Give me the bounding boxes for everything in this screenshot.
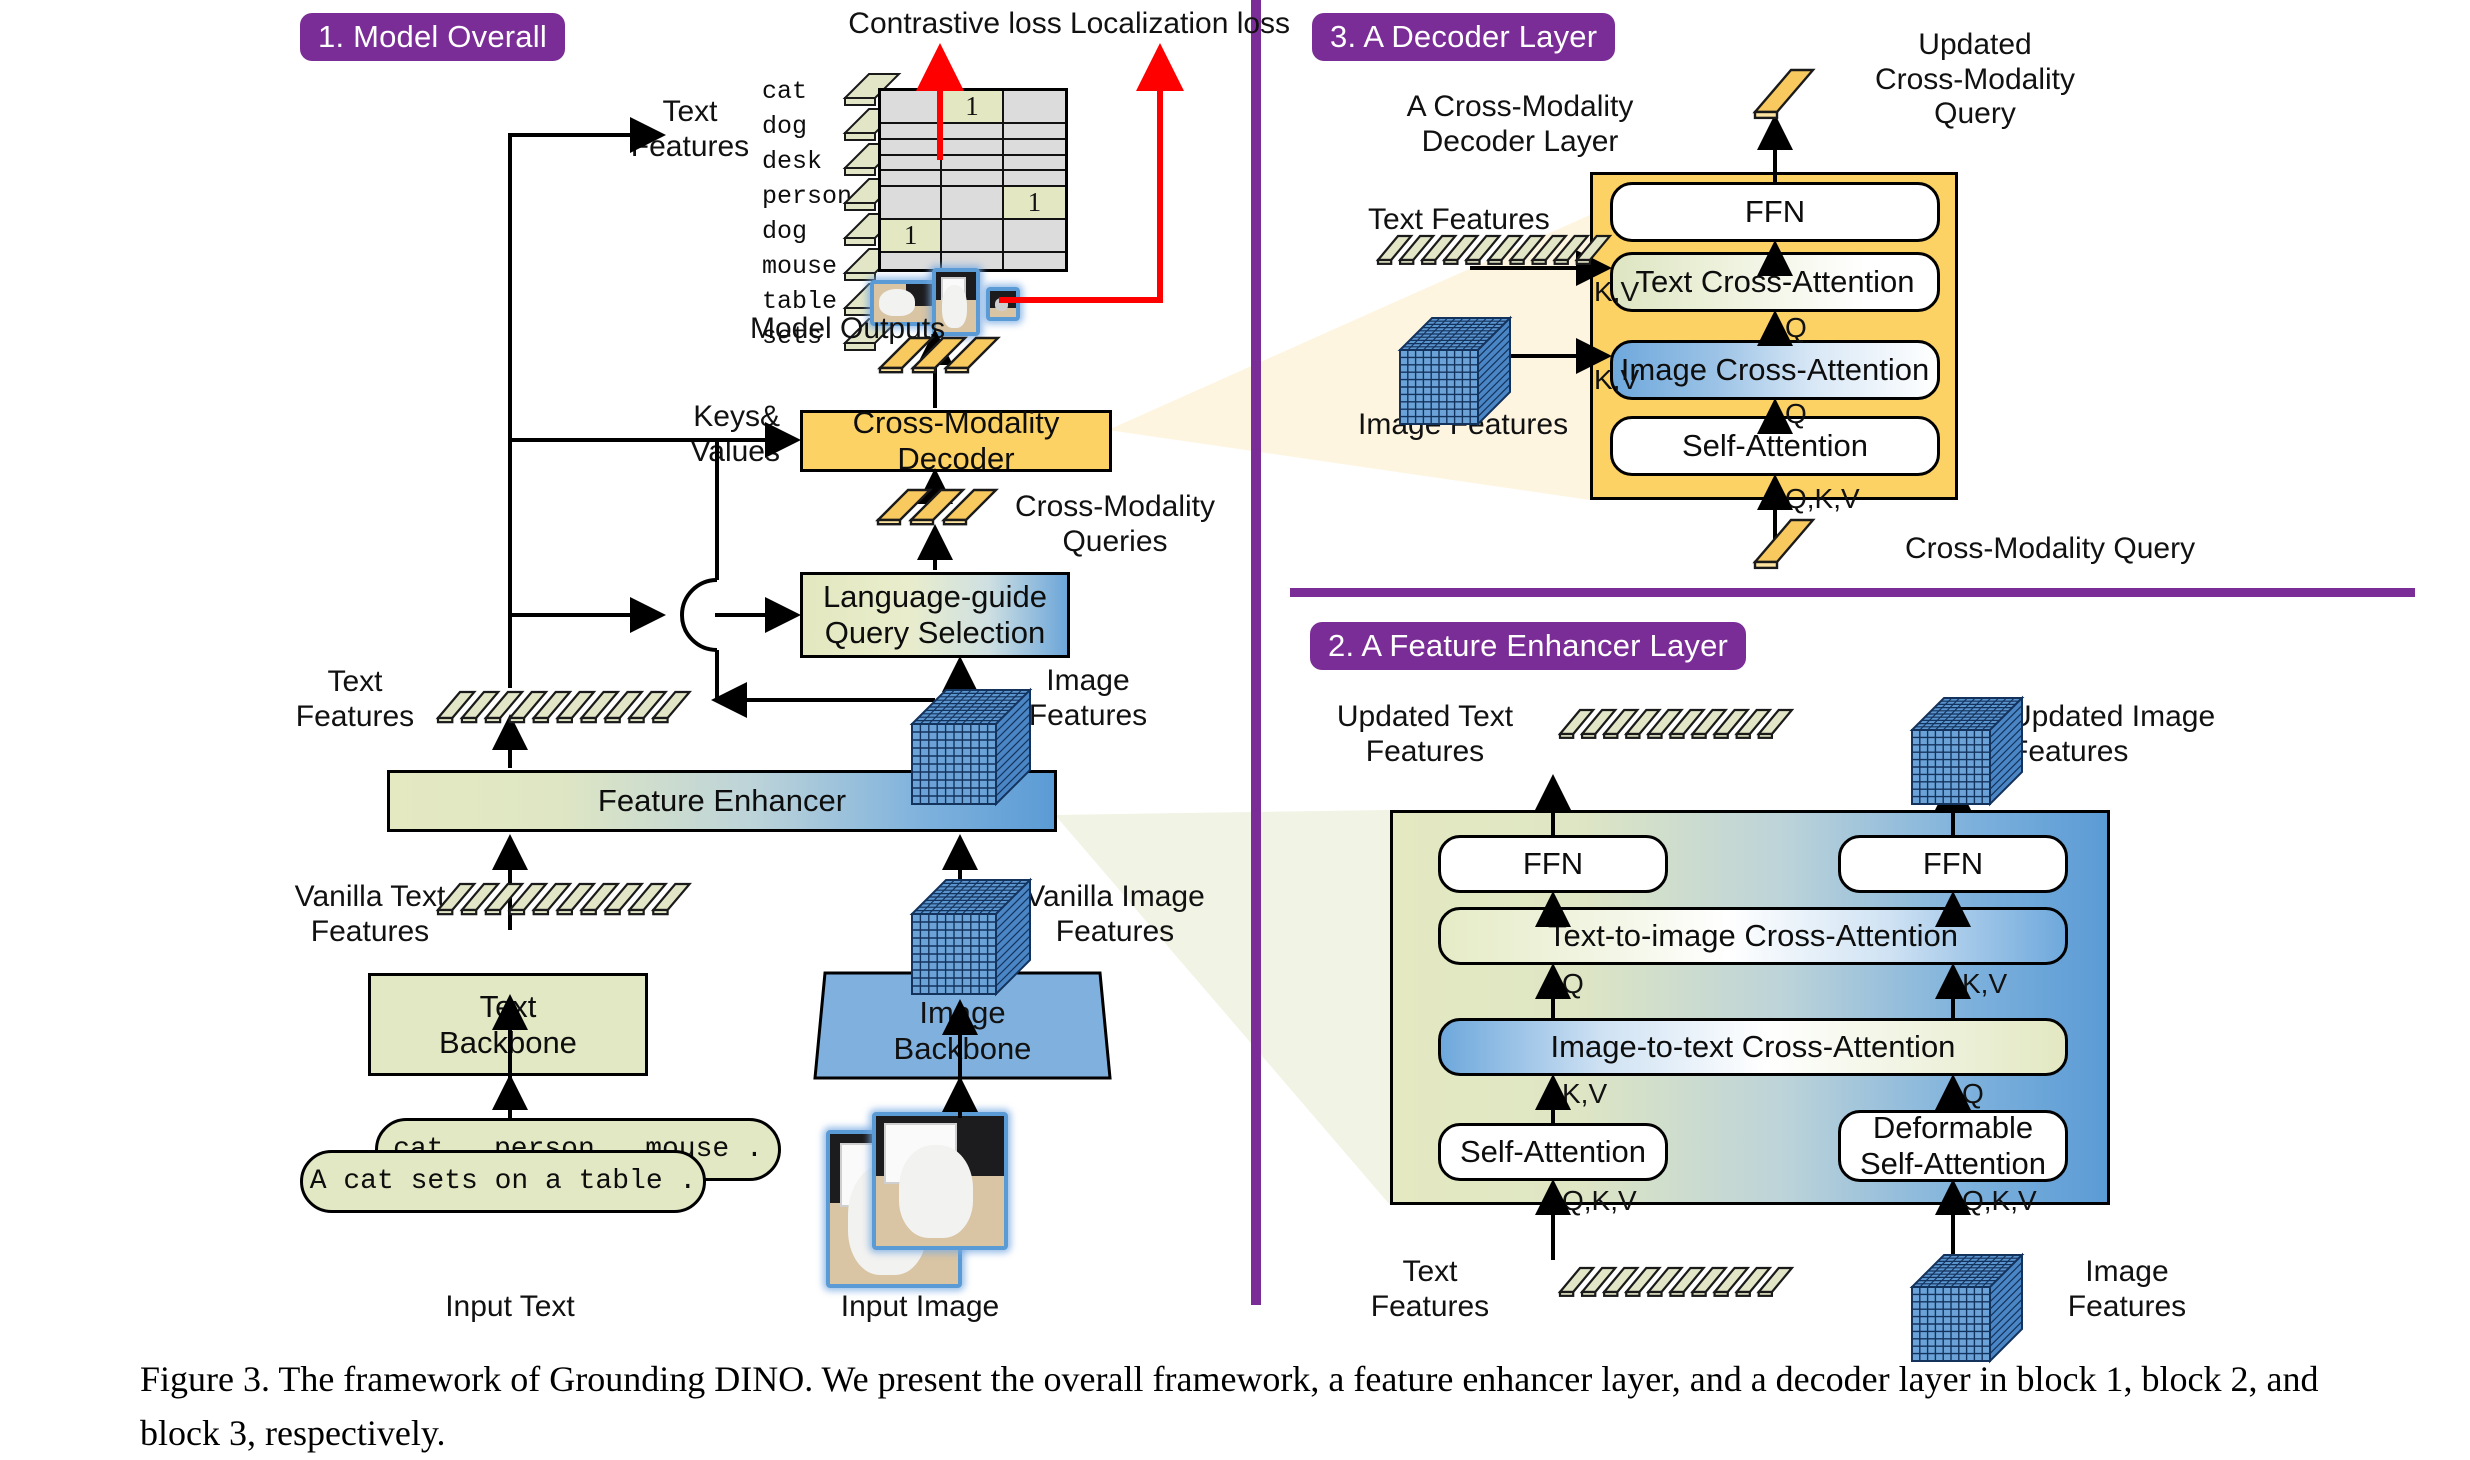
cross-modality-queries-glyph bbox=[878, 490, 996, 524]
decoder-updated-query-glyph bbox=[1755, 70, 1813, 118]
enhancer-updated-image-features-cube bbox=[1912, 698, 2022, 804]
text-features-glyph bbox=[438, 692, 690, 722]
enhancer-image-features-cube bbox=[1912, 1255, 2022, 1361]
enhancer-updated-text-features-glyph bbox=[1560, 710, 1792, 738]
vanilla-image-features-cube bbox=[912, 880, 1030, 994]
decoder-image-features-cube bbox=[1400, 318, 1510, 424]
vanilla-text-features-glyph bbox=[438, 884, 690, 914]
image-features-cube bbox=[912, 690, 1030, 804]
model-output-queries-glyph bbox=[880, 338, 998, 372]
figure-canvas: 1. Model Overall 3. A Decoder Layer 2. A… bbox=[0, 0, 2470, 1447]
feature-glyph-layer bbox=[0, 0, 2470, 1447]
figure-caption: Figure 3. The framework of Grounding DIN… bbox=[140, 1352, 2370, 1460]
decoder-text-features-glyph bbox=[1378, 236, 1610, 264]
decoder-input-query-glyph bbox=[1755, 520, 1813, 568]
enhancer-text-features-glyph bbox=[1560, 1268, 1792, 1296]
